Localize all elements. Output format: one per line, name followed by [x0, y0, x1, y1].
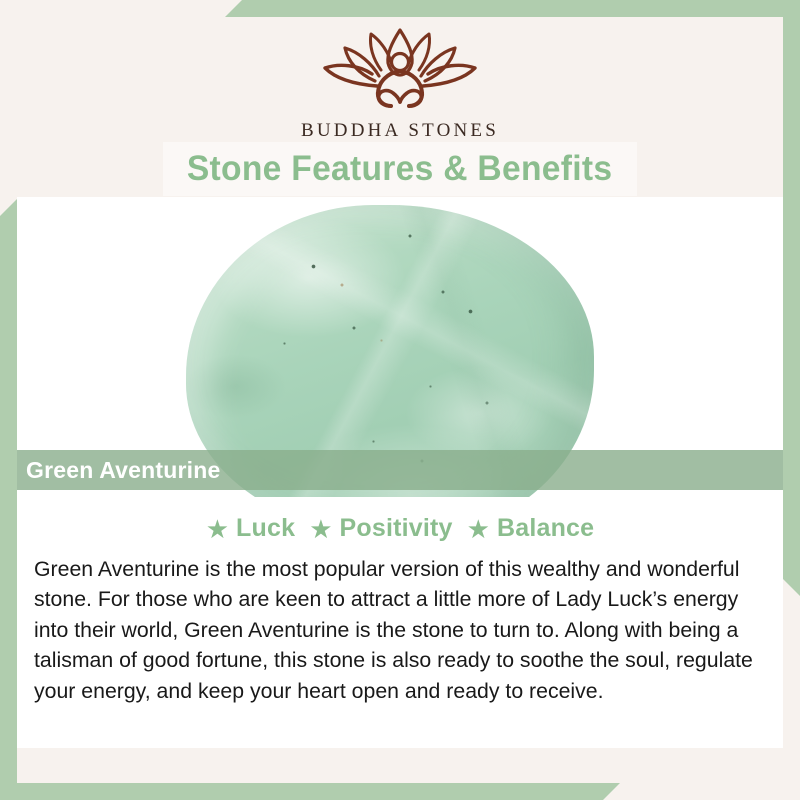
infographic-card: BUDDHA STONES Stone Features & Benefits …: [0, 0, 800, 800]
benefit-label: Positivity: [340, 514, 453, 543]
benefit-item-balance: ★ Balance: [467, 514, 595, 543]
frame-bar-bottom: [0, 783, 620, 800]
brand-wordmark: BUDDHA STONES: [0, 120, 800, 142]
stone-name-label: Green Aventurine: [26, 457, 221, 484]
title-banner: Stone Features & Benefits: [163, 142, 637, 196]
lotus-meditation-icon: [315, 24, 485, 116]
benefit-item-positivity: ★ Positivity: [309, 514, 452, 543]
star-icon: ★: [206, 516, 229, 542]
page-title: Stone Features & Benefits: [187, 149, 612, 189]
brand-logo: BUDDHA STONES: [0, 24, 800, 142]
star-icon: ★: [309, 516, 332, 542]
frame-bar-left: [0, 199, 17, 800]
benefit-label: Balance: [497, 514, 594, 543]
frame-bar-top: [225, 0, 800, 17]
star-icon: ★: [467, 516, 490, 542]
benefit-label: Luck: [236, 514, 295, 543]
description-text: Green Aventurine is the most popular ver…: [34, 554, 755, 706]
description-panel: ★ Luck ★ Positivity ★ Balance Green Aven…: [17, 497, 783, 748]
benefit-item-luck: ★ Luck: [206, 514, 295, 543]
benefits-row: ★ Luck ★ Positivity ★ Balance: [17, 514, 783, 543]
stone-name-band: Green Aventurine: [17, 450, 783, 490]
